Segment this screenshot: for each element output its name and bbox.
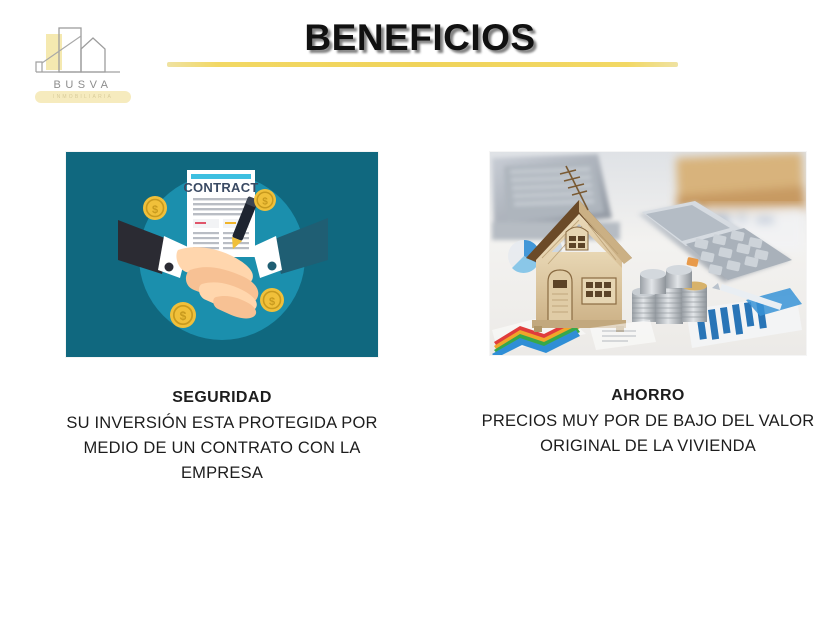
title-underline-rule (167, 62, 678, 67)
benefit-card-seguridad: CONTRACT (66, 152, 378, 486)
benefit-body-seguridad: SU INVERSIÓN ESTA PROTEGIDA POR MEDIO DE… (66, 414, 377, 482)
benefit-image-seguridad: CONTRACT (66, 152, 378, 357)
coin-icon-1: $ (143, 196, 167, 220)
company-logo: BUSVA INMOBILIARIA (28, 22, 138, 110)
coin-icon-2: $ (254, 189, 276, 211)
benefit-heading-ahorro: AHORRO (478, 383, 818, 408)
buildings-outline-icon (28, 22, 138, 84)
benefit-image-ahorro (490, 152, 806, 355)
coin-icon-3: $ (170, 302, 196, 328)
wooden-house-coins-calculator-photo (490, 152, 806, 355)
benefit-caption-ahorro: AHORRO PRECIOS MUY POR DE BAJO DEL VALOR… (478, 383, 818, 459)
logo-wordmark: BUSVA (28, 79, 138, 91)
benefit-heading-seguridad: SEGURIDAD (48, 385, 396, 410)
svg-text:$: $ (180, 309, 187, 323)
coin-icon-4: $ (260, 288, 284, 312)
svg-text:$: $ (262, 197, 268, 208)
handshake-contract-illustration: CONTRACT (66, 152, 378, 357)
svg-text:$: $ (269, 296, 275, 308)
benefit-card-ahorro: AHORRO PRECIOS MUY POR DE BAJO DEL VALOR… (490, 152, 806, 459)
svg-text:$: $ (152, 204, 158, 216)
benefit-body-ahorro: PRECIOS MUY POR DE BAJO DEL VALOR ORIGIN… (482, 412, 815, 455)
slide-title: BENEFICIOS (250, 19, 590, 56)
logo-tagline: INMOBILIARIA (28, 94, 138, 100)
svg-text:CONTRACT: CONTRACT (183, 180, 258, 195)
benefit-caption-seguridad: SEGURIDAD SU INVERSIÓN ESTA PROTEGIDA PO… (48, 385, 396, 486)
